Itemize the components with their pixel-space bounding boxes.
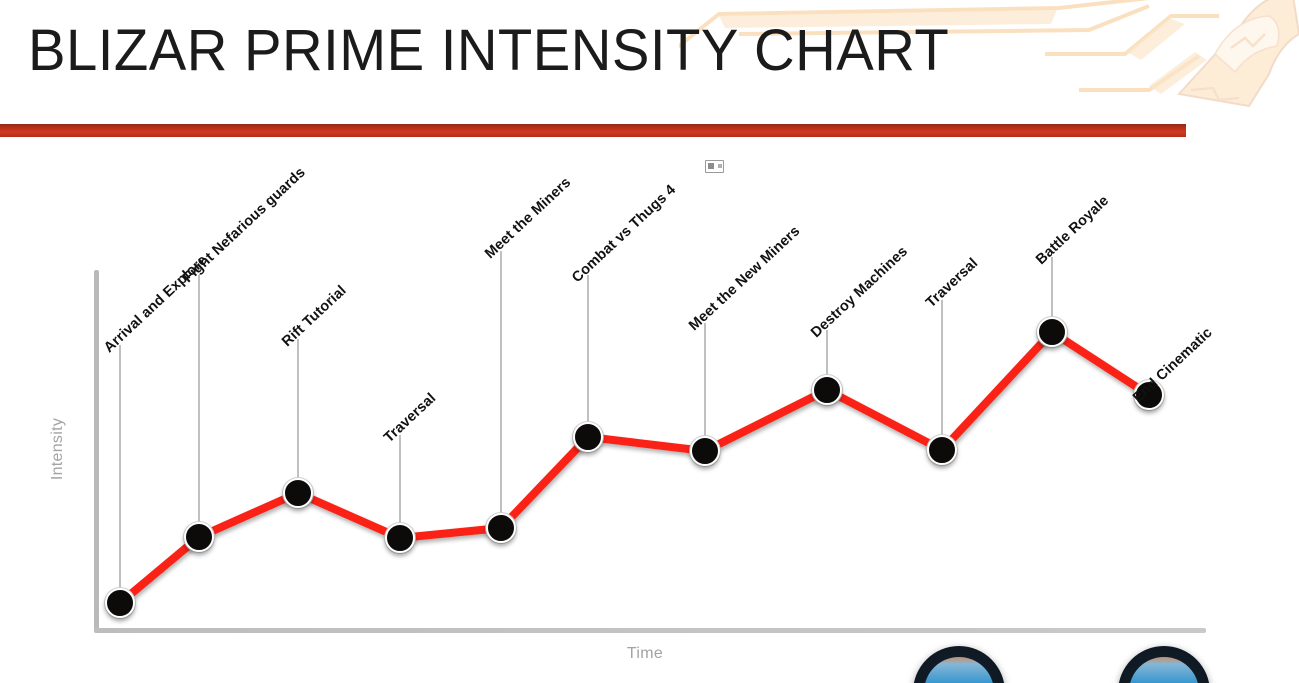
chart-plot-svg (0, 140, 1299, 683)
data-point-marker[interactable] (1037, 317, 1067, 347)
crosshair-icon (1129, 657, 1199, 683)
data-point-marker[interactable] (105, 588, 135, 618)
intensity-chart: Intensity Time Arrival and ExploreFight … (0, 140, 1299, 683)
data-point-marker[interactable] (690, 436, 720, 466)
slide-canvas: BLIZAR PRIME INTENSITY CHART Intensity T… (0, 0, 1299, 683)
accent-divider (0, 124, 1186, 137)
compass-icon (924, 657, 994, 683)
data-point-marker[interactable] (812, 375, 842, 405)
page-title: BLIZAR PRIME INTENSITY CHART (28, 22, 949, 80)
data-point-marker[interactable] (486, 513, 516, 543)
data-point-marker[interactable] (385, 523, 415, 553)
small-image-placeholder-icon (705, 160, 724, 173)
intensity-line (120, 332, 1149, 603)
data-point-marker[interactable] (573, 422, 603, 452)
data-point-marker[interactable] (184, 522, 214, 552)
data-point-marker[interactable] (283, 478, 313, 508)
data-point-marker[interactable] (927, 435, 957, 465)
